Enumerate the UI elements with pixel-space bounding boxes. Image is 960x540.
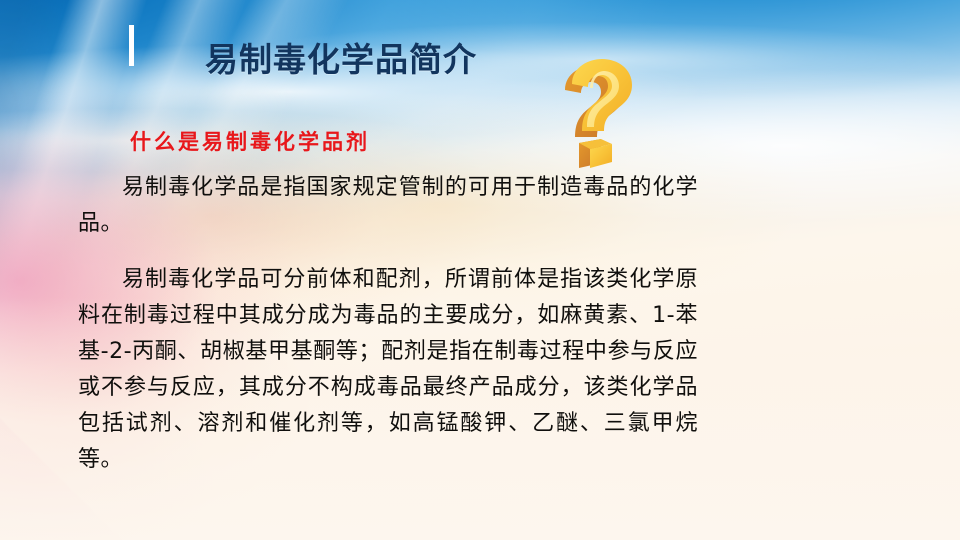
- body-paragraph-1: 易制毒化学品是指国家规定管制的可用于制造毒品的化学品。: [78, 170, 698, 242]
- body-paragraph-2: 易制毒化学品可分前体和配剂，所谓前体是指该类化学原料在制毒过程中其成分成为毒品的…: [78, 262, 698, 478]
- title-accent-bar-icon: [129, 25, 134, 66]
- slide-title: 易制毒化学品简介: [205, 33, 477, 81]
- presentation-slide: 易制毒化学品简介: [0, 0, 960, 540]
- section-sub-heading: 什么是易制毒化学品剂: [130, 126, 698, 156]
- slide-body: 什么是易制毒化学品剂 易制毒化学品是指国家规定管制的可用于制造毒品的化学品。 易…: [78, 126, 698, 492]
